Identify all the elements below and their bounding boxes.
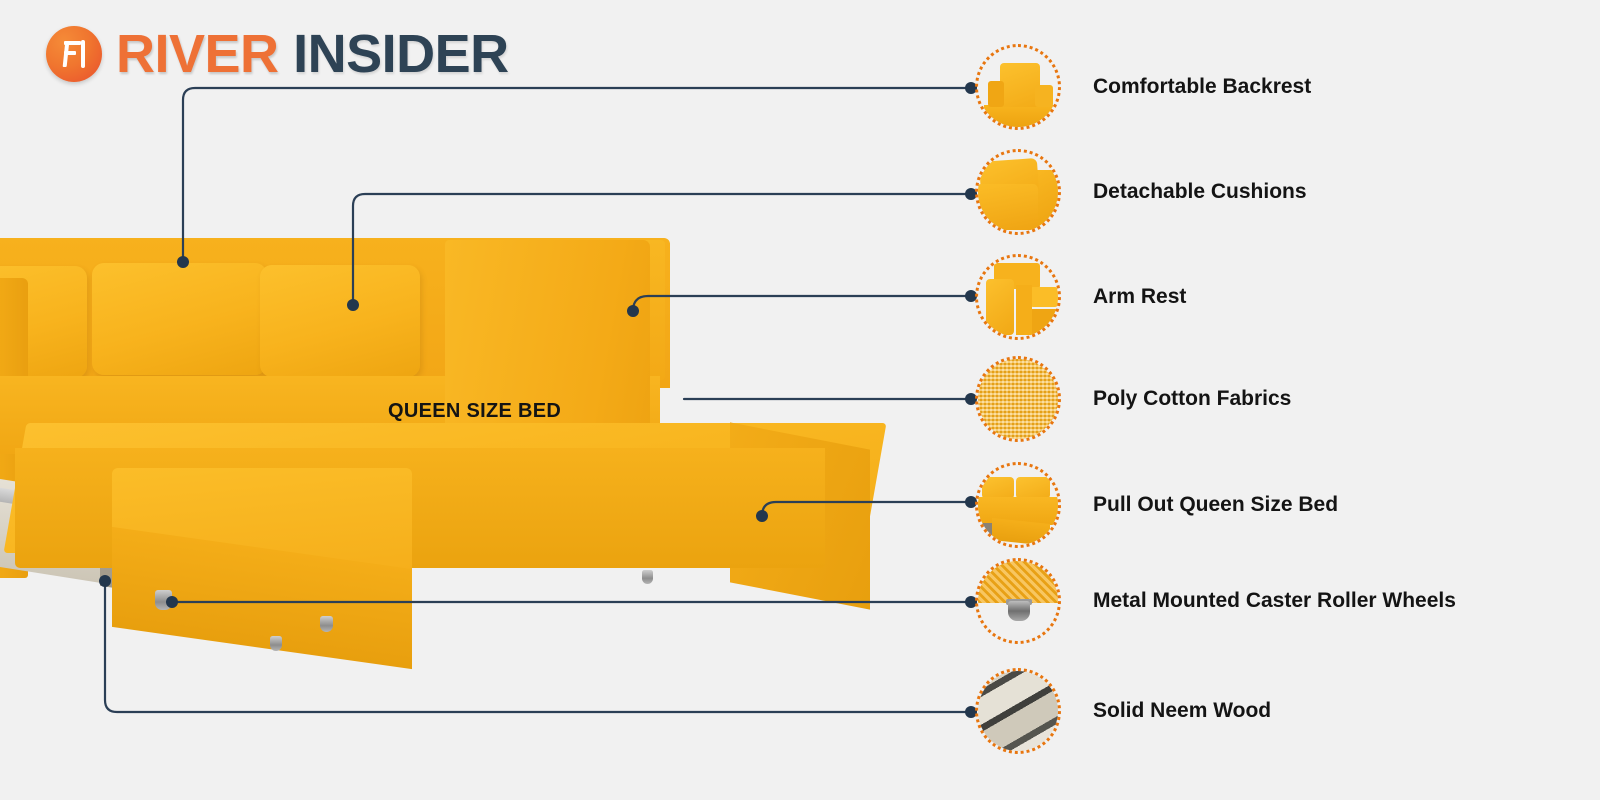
feature-label: Metal Mounted Caster Roller Wheels xyxy=(1093,589,1456,613)
dotted-ring-icon xyxy=(975,44,1061,130)
feature-thumbnail[interactable] xyxy=(975,462,1061,548)
dotted-ring-icon xyxy=(975,356,1061,442)
brand-name-primary: RIVER xyxy=(116,24,279,84)
feature-label: Pull Out Queen Size Bed xyxy=(1093,493,1338,517)
feature-row[interactable]: Comfortable Backrest xyxy=(975,44,1311,130)
caster-wheel-icon xyxy=(270,636,282,651)
caster-wheel-icon xyxy=(320,616,333,632)
sofa-cushion xyxy=(92,263,267,375)
feature-row[interactable]: Poly Cotton Fabrics xyxy=(975,356,1291,442)
feature-thumbnail[interactable] xyxy=(975,149,1061,235)
feature-thumbnail[interactable] xyxy=(975,254,1061,340)
dotted-ring-icon xyxy=(975,149,1061,235)
feature-thumbnail[interactable] xyxy=(975,668,1061,754)
dotted-ring-icon xyxy=(975,462,1061,548)
feature-row[interactable]: Detachable Cushions xyxy=(975,149,1307,235)
dotted-ring-icon xyxy=(975,254,1061,340)
dotted-ring-icon xyxy=(975,668,1061,754)
brand-wordmark: RIVER INSIDER xyxy=(116,27,509,81)
caster-wheel-icon xyxy=(155,590,172,610)
infographic-canvas: RIVER INSIDER QUEEN SIZE BED xyxy=(0,0,1600,800)
feature-row[interactable]: Pull Out Queen Size Bed xyxy=(975,462,1338,548)
feature-label: Arm Rest xyxy=(1093,285,1186,309)
feature-label: Comfortable Backrest xyxy=(1093,75,1311,99)
feature-row[interactable]: Solid Neem Wood xyxy=(975,668,1271,754)
feature-label: Solid Neem Wood xyxy=(1093,699,1271,723)
feature-label: Poly Cotton Fabrics xyxy=(1093,387,1291,411)
feature-row[interactable]: Metal Mounted Caster Roller Wheels xyxy=(975,558,1456,644)
brand-logo: RIVER INSIDER xyxy=(46,26,509,82)
dotted-ring-icon xyxy=(975,558,1061,644)
product-illustration xyxy=(0,218,930,668)
feature-thumbnail[interactable] xyxy=(975,44,1061,130)
sofa-cushion xyxy=(260,265,420,377)
brand-name-secondary: INSIDER xyxy=(293,24,509,84)
queen-size-bed-overlay-label: QUEEN SIZE BED xyxy=(388,400,561,423)
feature-thumbnail[interactable] xyxy=(975,558,1061,644)
feature-label: Detachable Cushions xyxy=(1093,180,1307,204)
caster-wheel-icon xyxy=(642,570,653,584)
feature-thumbnail[interactable] xyxy=(975,356,1061,442)
feature-row[interactable]: Arm Rest xyxy=(975,254,1186,340)
chair-monogram-icon xyxy=(46,26,102,82)
